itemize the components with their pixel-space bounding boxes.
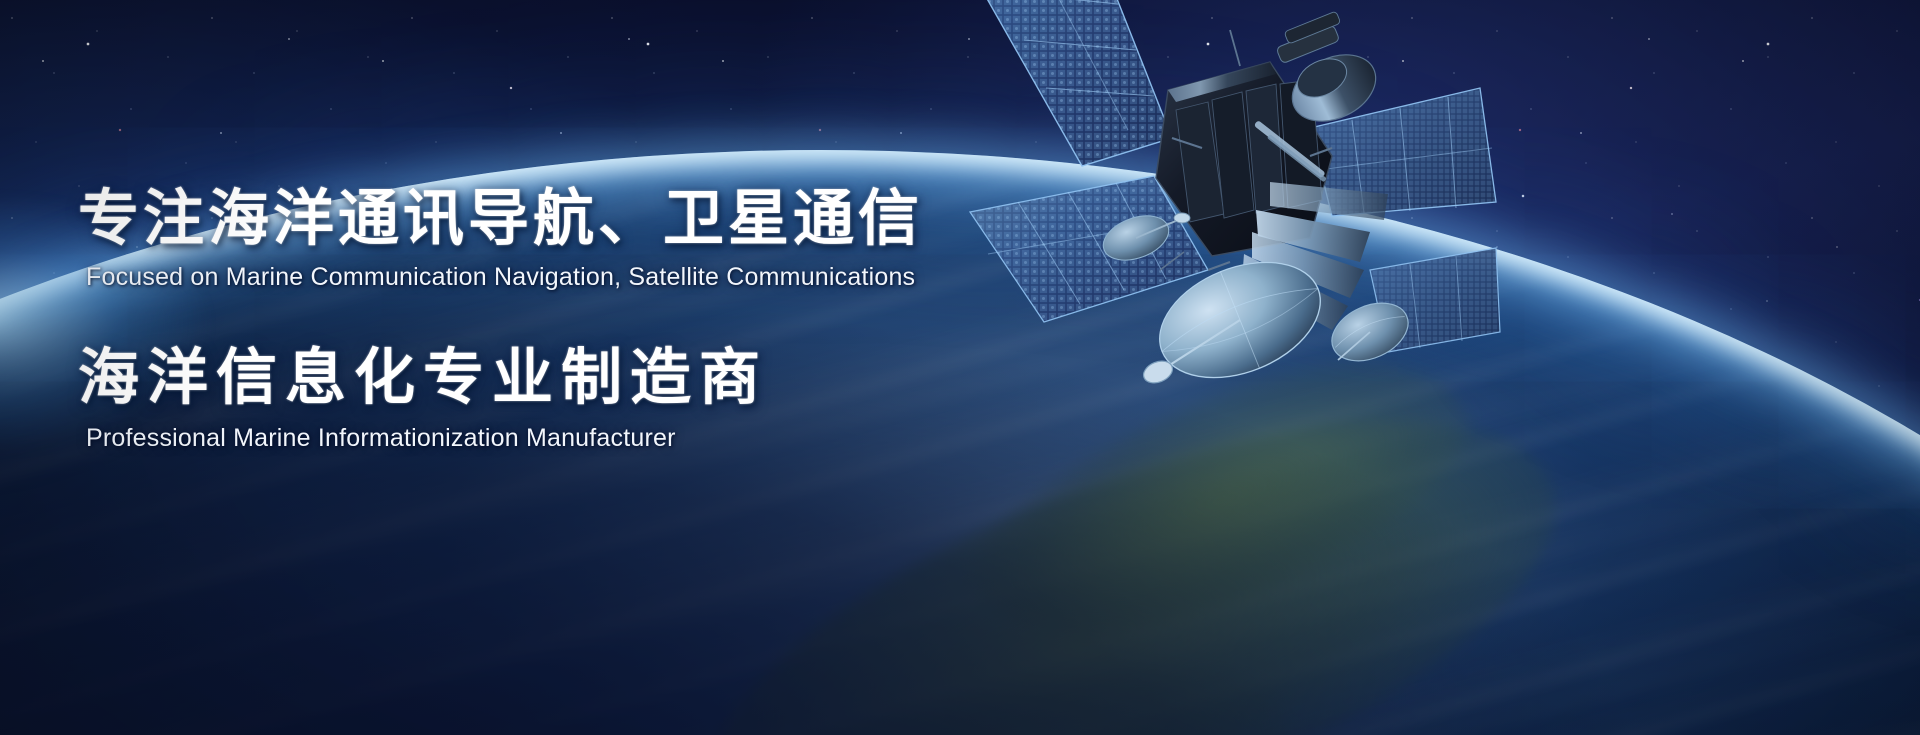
banner-copy: 专注海洋通讯导航、卫星通信 Focused on Marine Communic…	[78, 186, 1078, 454]
copy-block-one: 专注海洋通讯导航、卫星通信 Focused on Marine Communic…	[78, 186, 1078, 293]
headline-secondary: 海洋信息化专业制造商	[78, 345, 1078, 411]
copy-block-two: 海洋信息化专业制造商 Professional Marine Informati…	[78, 345, 1078, 454]
hero-banner: 专注海洋通讯导航、卫星通信 Focused on Marine Communic…	[0, 0, 1920, 735]
subline-secondary: Professional Marine Informationization M…	[86, 423, 1078, 454]
headline-primary: 专注海洋通讯导航、卫星通信	[78, 186, 1078, 252]
subline-primary: Focused on Marine Communication Navigati…	[86, 262, 1078, 293]
